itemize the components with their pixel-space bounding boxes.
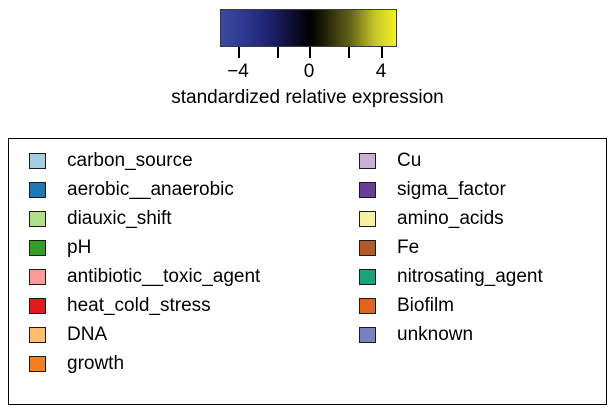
colorbar-tick-label-0: −4 [227,60,249,84]
legend-item: diauxic_shift [29,208,172,230]
legend-item-label: heat_cold_stress [67,295,211,317]
colorbar-legend: −404 standardized relative expression [0,0,615,120]
legend-color-swatch [359,211,376,227]
colorbar-tick-0 [238,47,240,58]
legend-color-swatch [29,269,46,285]
legend-item: amino_acids [359,208,504,230]
legend-item-label: pH [67,237,91,259]
colorbar-tick-2 [309,47,311,58]
colorbar-tick-marks [220,47,397,59]
legend-color-swatch [29,356,46,372]
legend-color-swatch [29,182,46,198]
legend-color-swatch [359,153,376,169]
colorbar-tick-3 [348,47,350,58]
category-legend-box: carbon_sourceaerobic__anaerobicdiauxic_s… [8,138,607,405]
legend-item: aerobic__anaerobic [29,179,234,201]
legend-color-swatch [29,153,46,169]
colorbar-gradient-strip [220,9,397,47]
legend-item: carbon_source [29,150,193,172]
legend-color-swatch [359,298,376,314]
legend-item-label: sigma_factor [397,179,506,201]
legend-item-label: aerobic__anaerobic [67,179,234,201]
legend-color-swatch [29,298,46,314]
legend-color-swatch [29,211,46,227]
legend-item-label: antibiotic__toxic_agent [67,266,260,288]
legend-item: Fe [359,237,419,259]
legend-item: pH [29,237,91,259]
legend-item: unknown [359,324,473,346]
legend-color-swatch [359,182,376,198]
legend-item-label: DNA [67,324,107,346]
legend-color-swatch [359,327,376,343]
legend-item: nitrosating_agent [359,266,543,288]
colorbar-axis-title: standardized relative expression [0,86,615,110]
legend-item: antibiotic__toxic_agent [29,266,260,288]
legend-item-label: diauxic_shift [67,208,172,230]
legend-item: DNA [29,324,107,346]
legend-color-swatch [29,327,46,343]
legend-item: Biofilm [359,295,454,317]
legend-item-label: unknown [397,324,473,346]
legend-color-swatch [29,240,46,256]
colorbar-tick-label-4: 4 [376,60,387,84]
legend-item-label: Fe [397,237,419,259]
legend-item: heat_cold_stress [29,295,211,317]
legend-color-swatch [359,240,376,256]
legend-item: sigma_factor [359,179,506,201]
legend-item-label: Cu [397,150,421,172]
legend-item-label: nitrosating_agent [397,266,543,288]
legend-item-label: growth [67,353,124,375]
legend-item-label: amino_acids [397,208,504,230]
legend-item: growth [29,353,124,375]
colorbar-tick-1 [277,47,279,58]
legend-item-label: Biofilm [397,295,454,317]
colorbar-tick-labels: −404 [220,60,397,84]
colorbar-tick-label-2: 0 [304,60,315,84]
legend-item-label: carbon_source [67,150,193,172]
colorbar-tick-4 [381,47,383,58]
legend-color-swatch [359,269,376,285]
legend-item: Cu [359,150,421,172]
